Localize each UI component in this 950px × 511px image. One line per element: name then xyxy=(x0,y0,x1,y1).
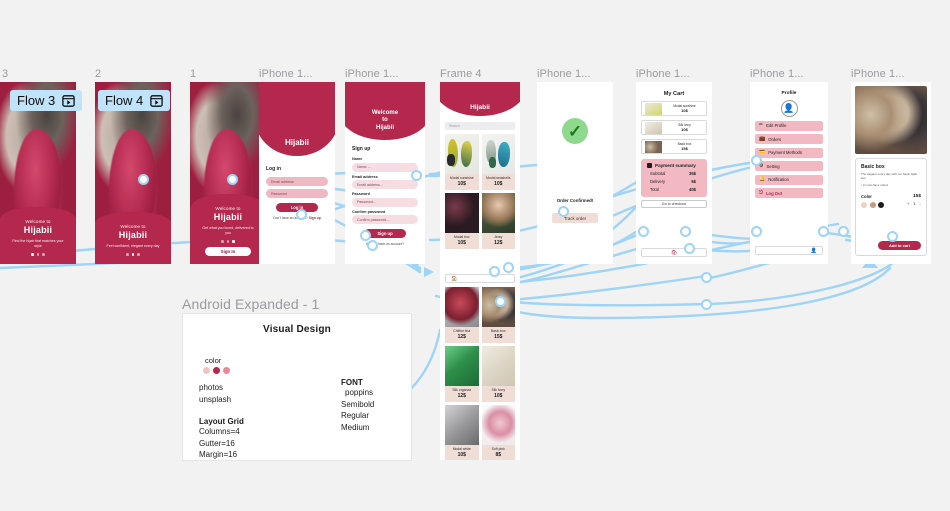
item-label: Log Out xyxy=(766,191,782,196)
password-field[interactable]: Password xyxy=(266,189,328,198)
welcome-screen-1[interactable]: Welcome to Hijabii Get what you loved, d… xyxy=(190,82,266,264)
summary-value: 35$ xyxy=(689,171,696,176)
cart-item-row[interactable]: Silk ivory 10$ xyxy=(641,120,707,135)
profile-item-setting[interactable]: ⚙ Setting xyxy=(755,161,823,171)
color-label: color xyxy=(205,356,244,365)
product-price: 10$ xyxy=(446,240,478,246)
summary-value: 40$ xyxy=(689,187,696,192)
figma-canvas[interactable]: 3 2 1 iPhone 1... iPhone 1... Frame 4 iP… xyxy=(0,0,950,511)
brand-name: Hijabii xyxy=(470,104,490,111)
user-avatar-icon: 👤 xyxy=(781,100,798,117)
qty-value: 1 xyxy=(913,201,915,206)
item-label: Setting xyxy=(766,164,779,169)
frame-label-2[interactable]: 2 xyxy=(95,68,101,80)
quantity-stepper[interactable]: + 1 - xyxy=(907,201,921,206)
welcome-subtitle: Welcome to xyxy=(196,206,260,211)
product-meta: Modal white 10$ xyxy=(445,445,479,460)
connector-node[interactable] xyxy=(558,206,569,217)
confirm-password-label: Confirm password xyxy=(352,210,418,214)
product-name: Silk organza xyxy=(446,388,478,392)
item-price: 10$ xyxy=(666,108,703,113)
bottom-tabbar[interactable]: 👤 xyxy=(755,246,823,255)
item-info: Silk ivory 10$ xyxy=(666,123,703,132)
pagination-dots[interactable] xyxy=(196,240,260,243)
name-field[interactable]: Name ... xyxy=(352,163,418,172)
pagination-dots[interactable] xyxy=(101,253,165,256)
product-card[interactable]: Jersy 12$ xyxy=(482,193,516,249)
product-grid: Modal sunshine 10$ Modal seashells 10$ xyxy=(445,134,515,249)
flow-badge-3[interactable]: Flow 3 xyxy=(10,90,82,111)
product-meta: Basic box 15$ xyxy=(482,327,516,343)
qty-increment-button[interactable]: - xyxy=(920,201,921,206)
item-price: 10$ xyxy=(666,127,703,132)
grid-gutter: Gutter=16 xyxy=(199,438,244,450)
frame-label-signup[interactable]: iPhone 1... xyxy=(345,68,399,80)
sign-in-button[interactable]: Sign In xyxy=(205,247,251,256)
visual-design-left-column: color photos unsplash Layout Grid Column… xyxy=(199,356,244,461)
bottom-tabbar[interactable]: 🏠 xyxy=(445,274,515,283)
home-icon[interactable]: 🏠 xyxy=(451,276,457,282)
qty-decrement-button[interactable]: + xyxy=(907,201,909,206)
product-name: Silk ivory xyxy=(483,388,515,392)
photos-label: photos xyxy=(199,382,244,394)
visual-design-title: Visual Design xyxy=(183,324,411,335)
product-name: Soft pink xyxy=(483,447,515,451)
welcome-card: Welcome to Hijabii Get what you loved, d… xyxy=(190,194,266,264)
email-field[interactable]: Email address... xyxy=(352,180,418,189)
password-field[interactable]: Password... xyxy=(352,198,418,207)
cart-screen[interactable]: My Cart Modal sunshine 10$ Silk ivory 10… xyxy=(636,82,712,264)
edit-icon: ✏ xyxy=(759,123,763,128)
models-trio-photo xyxy=(855,86,927,154)
color-swatch-tan[interactable] xyxy=(870,202,876,208)
summary-row: Subtotal 35$ xyxy=(647,171,701,176)
connector-node[interactable] xyxy=(818,226,829,237)
frame-label-3[interactable]: 3 xyxy=(2,68,8,80)
profile-title: Profile xyxy=(750,91,828,96)
grid-margin: Margin=16 xyxy=(199,449,244,461)
frame-label-android-expanded[interactable]: Android Expanded - 1 xyxy=(182,296,319,312)
color-label: Color xyxy=(861,194,884,199)
item-label: Payment Methods xyxy=(768,150,802,155)
password-label: Password xyxy=(352,192,418,196)
visual-design-frame[interactable]: Visual Design color photos unsplash Layo… xyxy=(182,313,412,461)
frame-label-confirm[interactable]: iPhone 1... xyxy=(537,68,591,80)
frame-label-frame4[interactable]: Frame 4 xyxy=(440,68,482,80)
product-name: Modal box xyxy=(446,235,478,239)
product-meta: Jersy 12$ xyxy=(482,233,516,249)
color-swatch-crimson xyxy=(213,367,220,374)
product-name: Modal seashells xyxy=(483,176,515,180)
color-swatch-rose xyxy=(223,367,230,374)
flow-badge-label: Flow 4 xyxy=(105,93,143,108)
summary-row: Delivery 5$ xyxy=(647,179,701,184)
product-card[interactable]: Chiffon lina 12$ xyxy=(445,287,479,343)
profile-item-payment-methods[interactable]: 💳 Payment Methods xyxy=(755,148,823,158)
order-confirmed-screen[interactable]: ✓ Order Confirmed! Track order xyxy=(537,82,613,264)
product-card[interactable]: Modal seashells 10$ xyxy=(482,134,516,190)
connector-node[interactable] xyxy=(495,296,506,307)
brand-line-1: Welcome xyxy=(372,110,398,118)
connector-node[interactable] xyxy=(638,226,649,237)
product-meta: Chiffon lina 12$ xyxy=(445,327,479,343)
email-label: Email address xyxy=(352,175,418,179)
profile-screen[interactable]: Profile 👤 ✏ Edit Profile 💼 Orders 💳 Paym… xyxy=(750,82,828,264)
bell-icon: 🔔 xyxy=(759,177,765,182)
brand-name: Welcome to Hijabii xyxy=(372,110,398,133)
product-name: Jersy xyxy=(483,235,515,239)
summary-row: Total 40$ xyxy=(647,187,701,192)
photos-value: unsplash xyxy=(199,394,244,406)
confirm-password-field[interactable]: Confirm password... xyxy=(352,215,418,224)
logout-icon: ⎋ xyxy=(759,191,763,196)
summary-label: Delivery xyxy=(650,179,665,184)
profile-item-orders[interactable]: 💼 Orders xyxy=(755,134,823,144)
play-prototype-icon[interactable] xyxy=(150,95,163,107)
font-weight-medium: Medium xyxy=(341,422,374,434)
product-name: Chiffon lina xyxy=(446,329,478,333)
welcome-tagline: Feel confident, elegant every day xyxy=(101,244,165,249)
connector-node[interactable] xyxy=(367,240,378,251)
flow-badge-4[interactable]: Flow 4 xyxy=(98,90,170,111)
search-input[interactable]: Search xyxy=(445,122,515,130)
card-icon: 💳 xyxy=(759,150,765,155)
cart-title: My Cart xyxy=(636,91,712,97)
color-price-row: Color 15$ + 1 - xyxy=(861,194,921,208)
color-swatches xyxy=(203,367,244,374)
product-thumbnail xyxy=(482,134,516,174)
product-price: 15$ xyxy=(483,334,515,340)
product-name: Basic box xyxy=(483,329,515,333)
cart-item-row[interactable]: Modal sunshine 10$ xyxy=(641,101,707,116)
brand-name: Hijabii xyxy=(6,225,70,235)
product-description: The elegant every day with our basic hij… xyxy=(861,172,921,181)
cart-icon[interactable]: 🛍 xyxy=(671,250,677,256)
font-weight-semibold: Semibold xyxy=(341,399,374,411)
connector-node[interactable] xyxy=(838,226,849,237)
summary-label: Subtotal xyxy=(650,171,665,176)
product-grid-lower: Chiffon lina 12$ Basic box 15$ Silk orga… xyxy=(445,287,515,460)
signup-link[interactable]: Sign up xyxy=(309,216,321,220)
welcome-subtitle: Welcome to xyxy=(6,219,70,224)
item-label: Notification xyxy=(768,177,789,182)
product-thumbnail xyxy=(482,193,516,233)
email-field[interactable]: Email address xyxy=(266,177,328,186)
product-price: 10$ xyxy=(483,181,515,187)
product-card[interactable]: Modal white 10$ xyxy=(445,405,479,460)
product-thumbnail xyxy=(482,405,516,445)
login-screen[interactable]: Hijabii Log in Email address Password Lo… xyxy=(259,82,335,264)
payment-summary-header: Payment summary xyxy=(647,163,701,168)
summary-value: 5$ xyxy=(691,179,696,184)
product-meta: Modal seashells 10$ xyxy=(482,174,516,190)
brand-line-3: Hijabii xyxy=(372,125,398,133)
product-meta: Silk ivory 10$ xyxy=(482,386,516,402)
profile-item-notification[interactable]: 🔔 Notification xyxy=(755,175,823,185)
product-price: 15$ xyxy=(907,194,921,199)
product-meta: Silk organza 12$ xyxy=(445,386,479,402)
connector-node[interactable] xyxy=(503,262,514,273)
product-meta: Soft pink 8$ xyxy=(482,445,516,460)
brand-line-2: to xyxy=(372,117,398,125)
product-card[interactable]: Silk ivory 10$ xyxy=(482,346,516,402)
profile-item-edit-profile[interactable]: ✏ Edit Profile xyxy=(755,121,823,131)
item-label: Orders xyxy=(768,137,781,142)
brand-name: Hijabii xyxy=(285,138,309,148)
product-name: Basic box xyxy=(861,164,921,170)
product-card[interactable]: Modal sunshine 10$ xyxy=(445,134,479,190)
payment-summary-title: Payment summary xyxy=(655,163,696,168)
brand-name: Hijabii xyxy=(101,230,165,240)
payment-summary: Payment summary Subtotal 35$ Delivery 5$… xyxy=(641,159,707,197)
cart-item-row[interactable]: Basic box 15$ xyxy=(641,139,707,154)
connector-node[interactable] xyxy=(751,226,762,237)
frame-label-profile[interactable]: iPhone 1... xyxy=(750,68,804,80)
play-prototype-icon[interactable] xyxy=(62,95,75,107)
connector-node[interactable] xyxy=(360,230,371,241)
product-name: Modal sunshine xyxy=(446,176,478,180)
connector-node[interactable] xyxy=(701,299,712,310)
confirmation-message: Order Confirmed! xyxy=(537,198,613,203)
name-label: Name xyxy=(352,157,418,161)
connector-node[interactable] xyxy=(684,243,695,254)
flow-badge-label: Flow 3 xyxy=(17,93,55,108)
visual-design-right-column: FONT poppins Semibold Regular Medium xyxy=(341,378,374,433)
product-meta: Modal box 10$ xyxy=(445,233,479,249)
brand-name: Hijabii xyxy=(196,212,260,222)
item-label: Edit Profile xyxy=(766,123,786,128)
frame-label-detail[interactable]: iPhone 1... xyxy=(851,68,905,80)
connector-node[interactable] xyxy=(138,174,149,185)
connector-node[interactable] xyxy=(680,226,691,237)
color-swatch-black[interactable] xyxy=(878,202,884,208)
color-swatch-beige[interactable] xyxy=(861,202,867,208)
item-price: 15$ xyxy=(666,146,703,151)
connector-node[interactable] xyxy=(296,209,307,220)
product-thumbnail xyxy=(445,405,479,445)
profile-icon[interactable]: 👤 xyxy=(811,248,817,254)
item-info: Modal sunshine 10$ xyxy=(666,104,703,113)
item-thumbnail xyxy=(645,103,662,115)
product-price: 12$ xyxy=(446,334,478,340)
color-selector[interactable]: Color xyxy=(861,194,884,208)
font-family: poppins xyxy=(345,387,374,399)
bag-icon: 💼 xyxy=(759,137,765,142)
bottom-tabbar[interactable]: 🛍 xyxy=(641,248,707,257)
go-to-checkout-button[interactable]: Go to checkout xyxy=(641,200,707,208)
color-swatch-light-pink xyxy=(203,367,210,374)
product-price: 10$ xyxy=(446,452,478,458)
product-card[interactable]: Modal box 10$ xyxy=(445,193,479,249)
product-thumbnail xyxy=(482,287,516,327)
connector-node[interactable] xyxy=(701,272,712,283)
product-price: 10$ xyxy=(446,181,478,187)
form-title: Sign up xyxy=(352,146,418,152)
welcome-card: Welcome to Hijabii Feel confident, elega… xyxy=(95,212,171,264)
product-thumbnail xyxy=(445,193,479,233)
product-card[interactable]: Soft pink 8$ xyxy=(482,405,516,460)
check-circle-icon: ✓ xyxy=(562,118,588,144)
frame-label-login[interactable]: iPhone 1... xyxy=(259,68,313,80)
summary-label: Total xyxy=(650,187,659,192)
product-meta: Modal sunshine 10$ xyxy=(445,174,479,190)
receipt-icon xyxy=(647,163,652,168)
pagination-dots[interactable] xyxy=(6,253,70,256)
brand-arc: Hijabii xyxy=(259,82,335,156)
item-thumbnail xyxy=(645,122,662,134)
font-title: FONT xyxy=(341,378,374,387)
frame-label-cart[interactable]: iPhone 1... xyxy=(636,68,690,80)
product-price: 12$ xyxy=(483,240,515,246)
item-info: Basic box 15$ xyxy=(666,142,703,151)
product-price: 10$ xyxy=(483,393,515,399)
layout-grid-title: Layout Grid xyxy=(199,417,244,426)
product-bullet: • 3 must-have colors xyxy=(861,183,921,187)
product-thumbnail xyxy=(482,346,516,386)
product-card[interactable]: Silk organza 12$ xyxy=(445,346,479,402)
product-price: 12$ xyxy=(446,393,478,399)
product-price: 8$ xyxy=(483,452,515,458)
welcome-card: Welcome to Hijabii Find the hijab that m… xyxy=(0,207,76,264)
connector-node[interactable] xyxy=(227,174,238,185)
form-title: Log in xyxy=(266,166,328,172)
grid-columns: Columns=4 xyxy=(199,426,244,438)
price-qty: 15$ + 1 - xyxy=(907,194,921,206)
profile-item-log-out[interactable]: ⎋ Log Out xyxy=(755,188,823,198)
welcome-tagline: Get what you loved, delivered to you xyxy=(196,226,260,235)
login-prompt: Already have an account? xyxy=(352,242,418,246)
welcome-subtitle: Welcome to xyxy=(101,224,165,229)
frame-label-1[interactable]: 1 xyxy=(190,68,196,80)
brand-arc: Hijabii xyxy=(440,82,520,116)
connector-node[interactable] xyxy=(411,170,422,181)
font-weight-regular: Regular xyxy=(341,410,374,422)
product-thumbnail xyxy=(445,134,479,174)
connector-node[interactable] xyxy=(887,231,898,242)
product-thumbnail xyxy=(445,346,479,386)
product-thumbnail xyxy=(445,287,479,327)
item-thumbnail xyxy=(645,141,662,153)
color-swatches[interactable] xyxy=(861,202,884,208)
welcome-tagline: Find the hijab that matches your style xyxy=(6,239,70,248)
product-name: Modal white xyxy=(446,447,478,451)
brand-arc: Welcome to Hijabii xyxy=(345,82,425,140)
add-to-cart-button[interactable]: Add to cart xyxy=(878,241,921,250)
connector-node[interactable] xyxy=(489,266,500,277)
connector-node[interactable] xyxy=(751,155,762,166)
